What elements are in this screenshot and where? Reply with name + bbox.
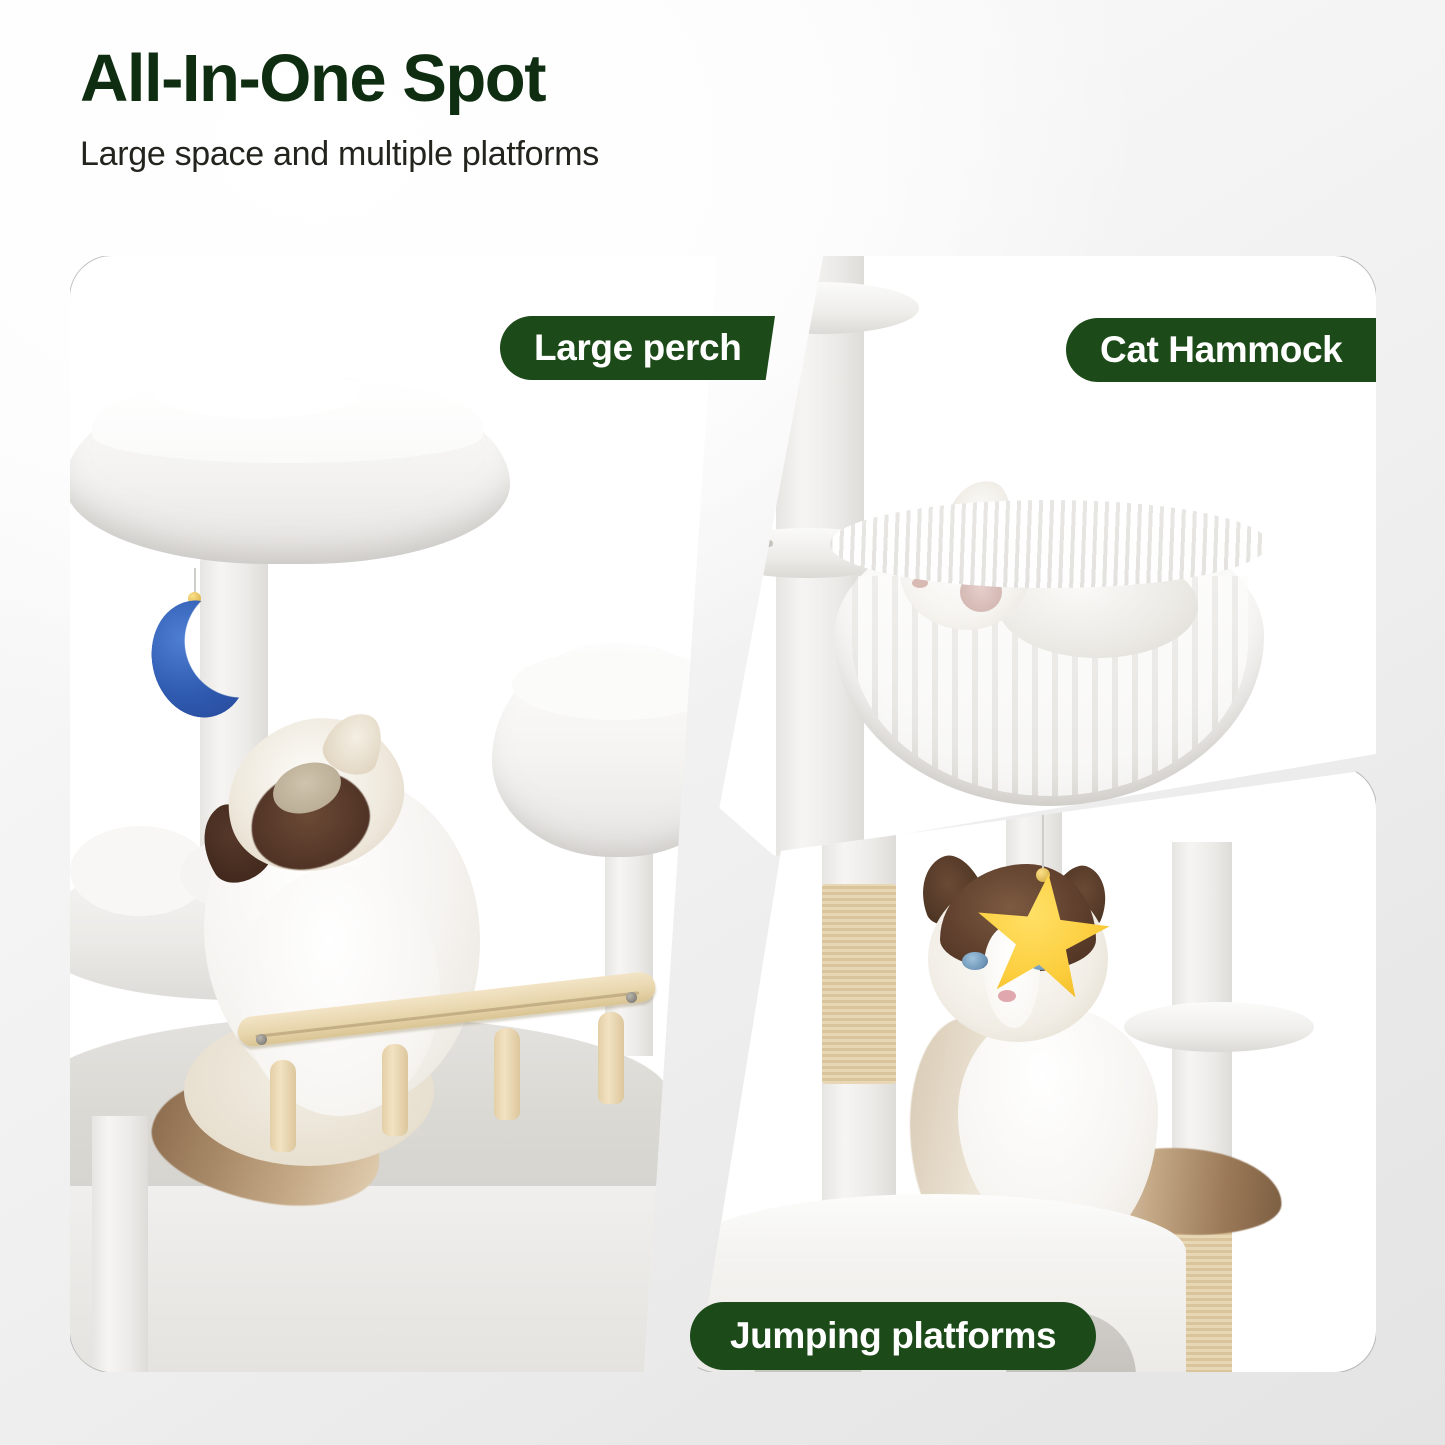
panel-jumping-platforms[interactable] [676, 766, 1376, 1372]
rail-screw-left [256, 1034, 267, 1045]
panel-jumping-platforms-image [676, 766, 1376, 1372]
hammock-rim [830, 500, 1268, 588]
kitten-eye-left [962, 952, 988, 970]
badge-cat-hammock: Cat Hammock [1066, 318, 1376, 382]
jumping-platform-scene [676, 766, 1376, 1372]
page-title: All-In-One Spot [80, 44, 980, 114]
badge-cat-hammock-label: Cat Hammock [1100, 329, 1342, 371]
rail-leg-1 [270, 1060, 296, 1152]
badge-jumping-platforms: Jumping platforms [690, 1302, 1096, 1370]
left-sisal-scratching-post [822, 884, 896, 1084]
lower-plush-surface [70, 1186, 690, 1372]
rail-leg-2 [382, 1044, 408, 1136]
large-perch-bowl [70, 374, 510, 564]
toy-string [1042, 810, 1044, 874]
header: All-In-One Spot Large space and multiple… [80, 44, 980, 174]
badge-large-perch-label: Large perch [534, 327, 741, 369]
rail-leg-4 [598, 1012, 624, 1104]
badge-jumping-platforms-label: Jumping platforms [730, 1315, 1056, 1357]
badge-large-perch: Large perch [500, 316, 775, 380]
rail-leg-3 [494, 1028, 520, 1120]
kitten-nose [998, 990, 1016, 1002]
page-subtitle: Large space and multiple platforms [80, 136, 980, 173]
rail-screw-right [626, 992, 637, 1003]
